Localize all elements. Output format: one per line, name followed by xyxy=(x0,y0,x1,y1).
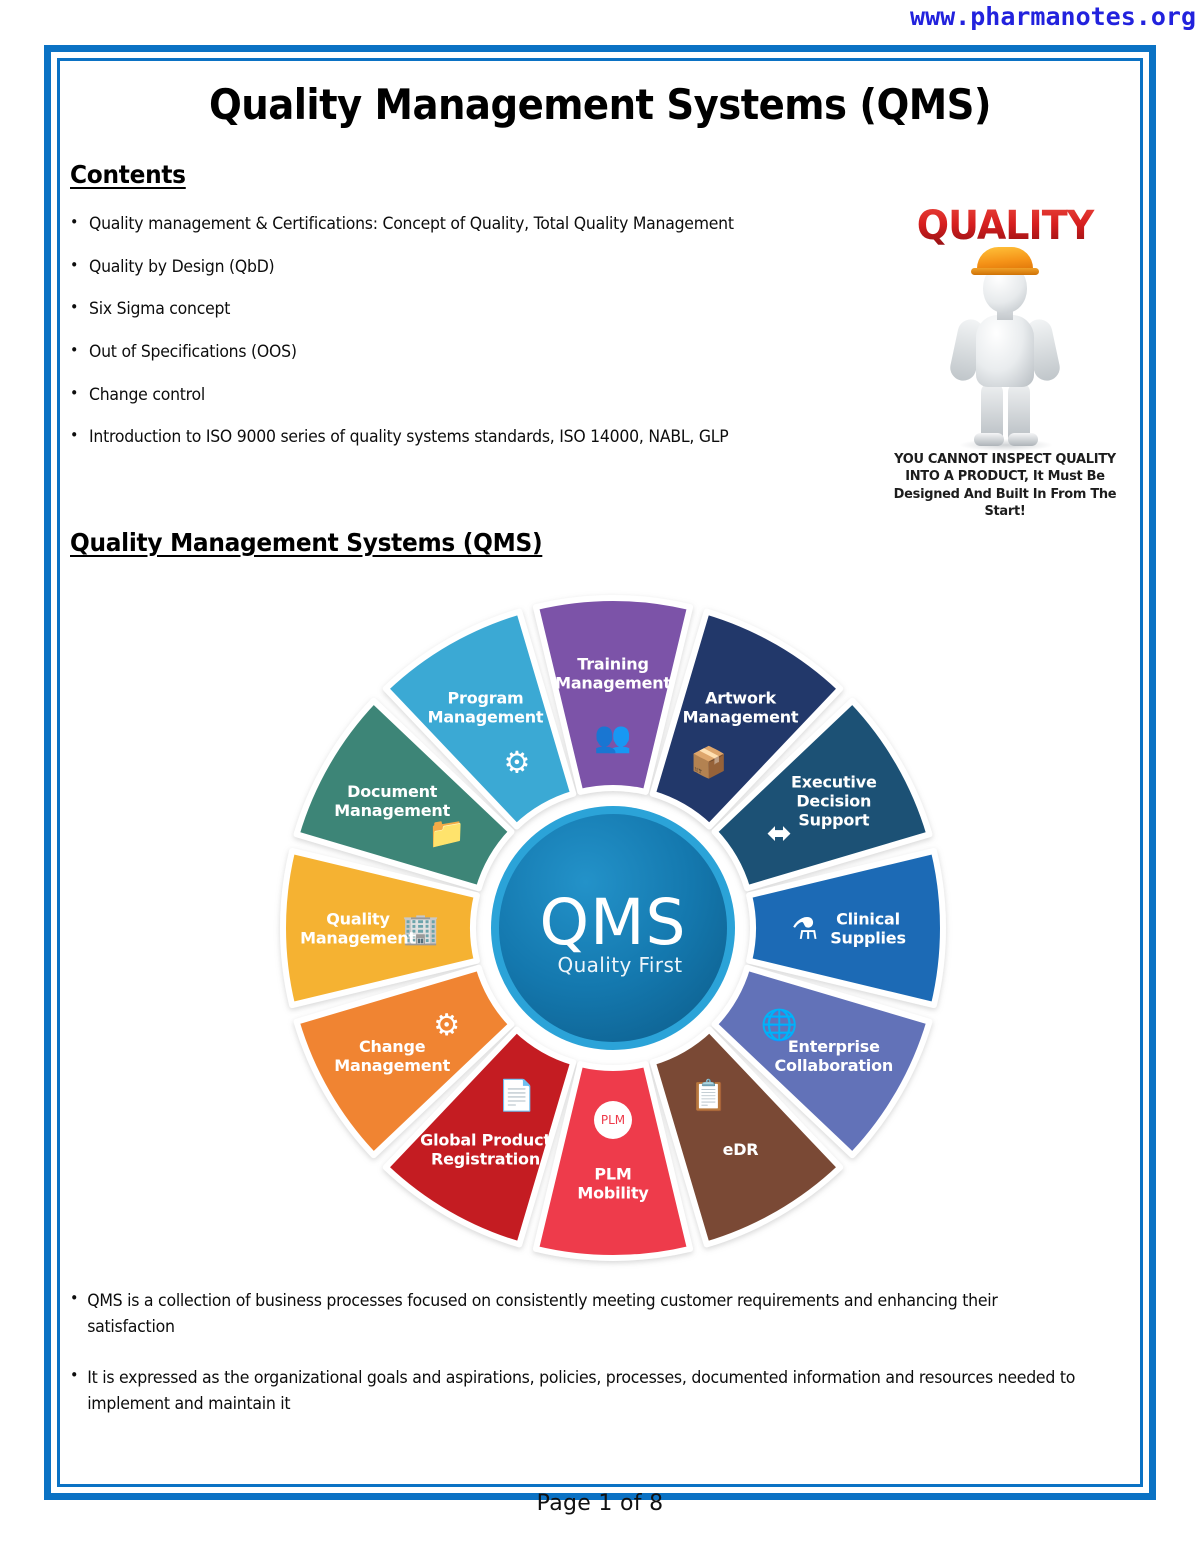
hub-tagline: Quality First xyxy=(557,953,682,977)
svg-text:⬌: ⬌ xyxy=(767,816,792,851)
svg-text:👥: 👥 xyxy=(594,720,631,755)
list-item: Quality by Design (QbD) xyxy=(70,257,821,278)
svg-text:⚗: ⚗ xyxy=(792,912,819,947)
quality-poster-image: QUALITY YOU CANNOT INSPECT QUALITY INTO … xyxy=(884,201,1126,526)
site-watermark: www.pharmanotes.org xyxy=(910,2,1196,31)
qms-wheel-diagram: 👥📦⬌⚗🌐📋PLM📄⚙🏢📁⚙ QMS Quality First Trainin… xyxy=(268,578,958,1278)
list-item: Introduction to ISO 9000 series of quali… xyxy=(70,427,821,448)
hard-hat-worker-icon xyxy=(884,233,1126,448)
svg-text:📦: 📦 xyxy=(690,745,727,781)
list-item: Change control xyxy=(70,385,821,406)
gear-cycle-icon: ⚙ xyxy=(504,746,531,781)
gear-people-icon: ⚙ xyxy=(433,1008,460,1043)
svg-text:📁: 📁 xyxy=(428,816,465,851)
list-item: Quality management & Certifications: Con… xyxy=(70,214,821,235)
list-item: QMS is a collection of business processe… xyxy=(70,1288,1082,1339)
svg-text:📋: 📋 xyxy=(690,1077,727,1113)
contents-list: Quality management & Certifications: Con… xyxy=(70,214,860,470)
list-item: Out of Specifications (OOS) xyxy=(70,342,821,363)
wheel-segment-label: DocumentManagement xyxy=(334,782,450,820)
people-meeting-icon: 👥 xyxy=(594,720,631,755)
svg-text:PLM: PLM xyxy=(601,1113,625,1127)
wheel-hub: QMS Quality First xyxy=(485,800,741,1056)
list-item: Six Sigma concept xyxy=(70,299,821,320)
svg-text:⚙: ⚙ xyxy=(433,1008,460,1043)
page-number-footer: Page 1 of 8 xyxy=(0,1491,1200,1516)
document-page: www.pharmanotes.org Quality Management S… xyxy=(0,0,1200,1553)
list-item: It is expressed as the organizational go… xyxy=(70,1365,1082,1416)
svg-text:⚙: ⚙ xyxy=(504,746,531,781)
clipboard-icon: 📋 xyxy=(690,1077,727,1113)
arrows-decision-icon: ⬌ xyxy=(767,816,792,851)
certificate-check-icon: 📄 xyxy=(498,1077,535,1113)
qms-section-heading: Quality Management Systems (QMS) xyxy=(70,528,542,557)
wheel-segment-label: ExecutiveDecisionSupport xyxy=(791,773,877,830)
hub-title: QMS xyxy=(540,886,687,959)
page-content: Quality Management Systems (QMS) Content… xyxy=(64,66,1136,1480)
quality-poster-caption: YOU CANNOT INSPECT QUALITY INTO A PRODUC… xyxy=(889,451,1121,520)
wheel-segment-label: EnterpriseCollaboration xyxy=(775,1037,894,1075)
box-gear-icon: 📦 xyxy=(690,745,727,781)
plm-badge-icon: PLM xyxy=(594,1101,632,1139)
page-title: Quality Management Systems (QMS) xyxy=(107,80,1093,129)
contents-heading: Contents xyxy=(70,160,186,189)
qms-notes-list: QMS is a collection of business processe… xyxy=(70,1288,1130,1442)
wheel-segment-label: Global ProductRegistration xyxy=(420,1130,551,1168)
wheel-segment-label: ClinicalSupplies xyxy=(830,910,906,948)
folder-clock-icon: 📁 xyxy=(428,816,465,851)
wheel-segment-label: eDR xyxy=(723,1140,759,1159)
svg-text:📄: 📄 xyxy=(498,1077,535,1113)
qms-wheel-svg: 👥📦⬌⚗🌐📋PLM📄⚙🏢📁⚙ QMS Quality First Trainin… xyxy=(268,578,958,1278)
lab-supplies-icon: ⚗ xyxy=(792,912,819,947)
